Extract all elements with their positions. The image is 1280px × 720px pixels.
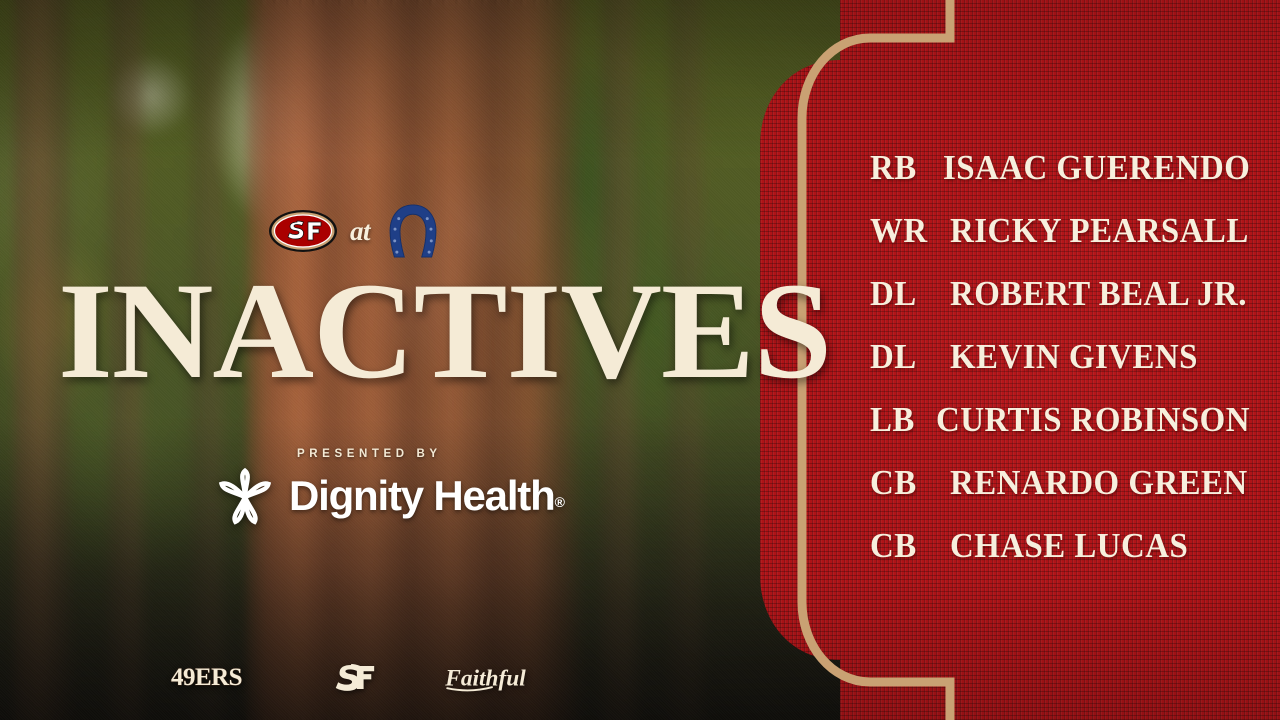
registered-trademark-icon: ® xyxy=(555,494,565,510)
list-item: WR RICKY PEARSALL xyxy=(870,211,1270,274)
inactives-graphic: RB ISAAC GUERENDO WR RICKY PEARSALL DL R… xyxy=(0,0,1280,720)
matchup-separator: at xyxy=(350,216,370,247)
list-item: RB ISAAC GUERENDO xyxy=(870,148,1270,211)
roster-position: DL xyxy=(870,337,945,377)
colts-horseshoe-logo xyxy=(382,200,444,262)
list-item: DL KEVIN GIVENS xyxy=(870,337,1270,400)
list-item: CB RENARDO GREEN xyxy=(870,463,1270,526)
roster-position: DL xyxy=(870,274,945,314)
list-item: LB CURTIS ROBINSON xyxy=(870,400,1270,463)
sponsor-name: Dignity Health® xyxy=(289,472,565,520)
footer-brand-marks: 49ERS Faithful xyxy=(170,660,570,704)
sponsor-name-text: Dignity Health xyxy=(289,472,555,519)
roster-position: CB xyxy=(870,526,945,566)
matchup: at xyxy=(268,200,444,262)
list-item: DL ROBERT BEAL JR. xyxy=(870,274,1270,337)
roster-player-name: KEVIN GIVENS xyxy=(950,337,1198,377)
49ers-wordmark: 49ERS xyxy=(170,660,266,694)
roster-player-name: RENARDO GREEN xyxy=(950,463,1248,503)
faithful-script-wordmark: Faithful xyxy=(442,660,540,696)
sponsor-lockup: Dignity Health® xyxy=(214,466,565,526)
roster-position: RB xyxy=(870,148,939,188)
inactives-list: RB ISAAC GUERENDO WR RICKY PEARSALL DL R… xyxy=(870,148,1270,589)
list-item: CB CHASE LUCAS xyxy=(870,526,1270,589)
dignity-health-petal-logo xyxy=(214,466,276,526)
roster-player-name: RICKY PEARSALL xyxy=(950,211,1249,251)
svg-text:49ERS: 49ERS xyxy=(171,664,242,691)
presented-by-label: PRESENTED BY xyxy=(297,448,442,460)
roster-player-name: ISAAC GUERENDO xyxy=(943,148,1250,188)
sf-monogram xyxy=(330,660,378,694)
roster-player-name: CHASE LUCAS xyxy=(950,526,1188,566)
roster-position: WR xyxy=(870,211,945,251)
roster-player-name: ROBERT BEAL JR. xyxy=(950,274,1247,314)
svg-text:Faithful: Faithful xyxy=(444,665,526,691)
roster-position: CB xyxy=(870,463,945,503)
roster-position: LB xyxy=(870,400,932,440)
49ers-shield-logo xyxy=(268,208,338,254)
roster-player-name: CURTIS ROBINSON xyxy=(936,400,1250,440)
page-title: INACTIVES xyxy=(58,272,831,391)
